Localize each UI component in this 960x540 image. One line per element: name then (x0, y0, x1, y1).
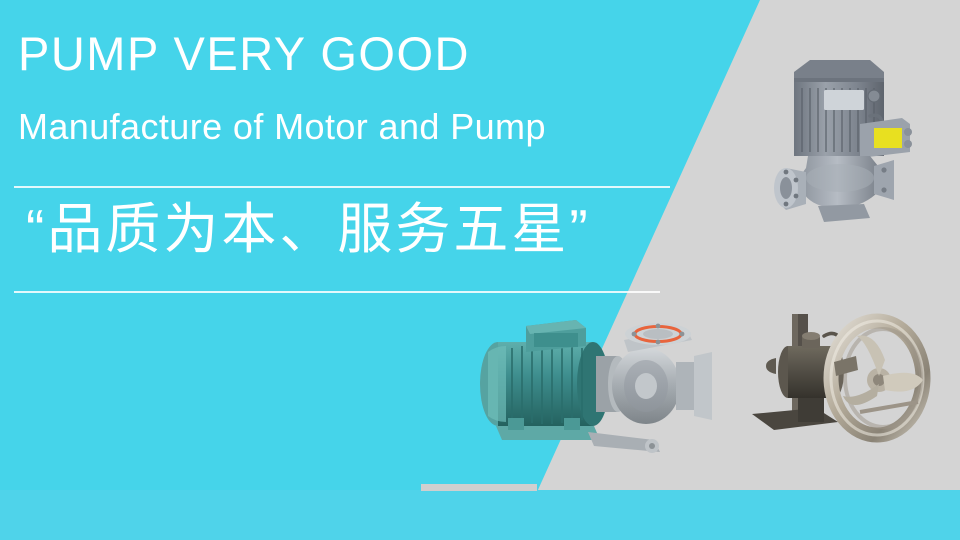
divider-top (14, 186, 670, 188)
background-bottom-strip (0, 490, 960, 540)
page-subtitle: Manufacture of Motor and Pump (18, 105, 546, 148)
page-title: PUMP VERY GOOD (18, 28, 470, 80)
tagline-chinese: “品质为本、服务五星” (26, 198, 591, 261)
product-image-horizontal-centrifugal-pump (468, 300, 728, 465)
promo-banner: PUMP VERY GOOD Manufacture of Motor and … (0, 0, 960, 540)
product-image-vertical-inline-pump (752, 48, 942, 238)
product-image-submersible-mixer (742, 296, 952, 466)
carousel-indicator[interactable] (421, 484, 537, 491)
divider-bottom (14, 291, 660, 293)
